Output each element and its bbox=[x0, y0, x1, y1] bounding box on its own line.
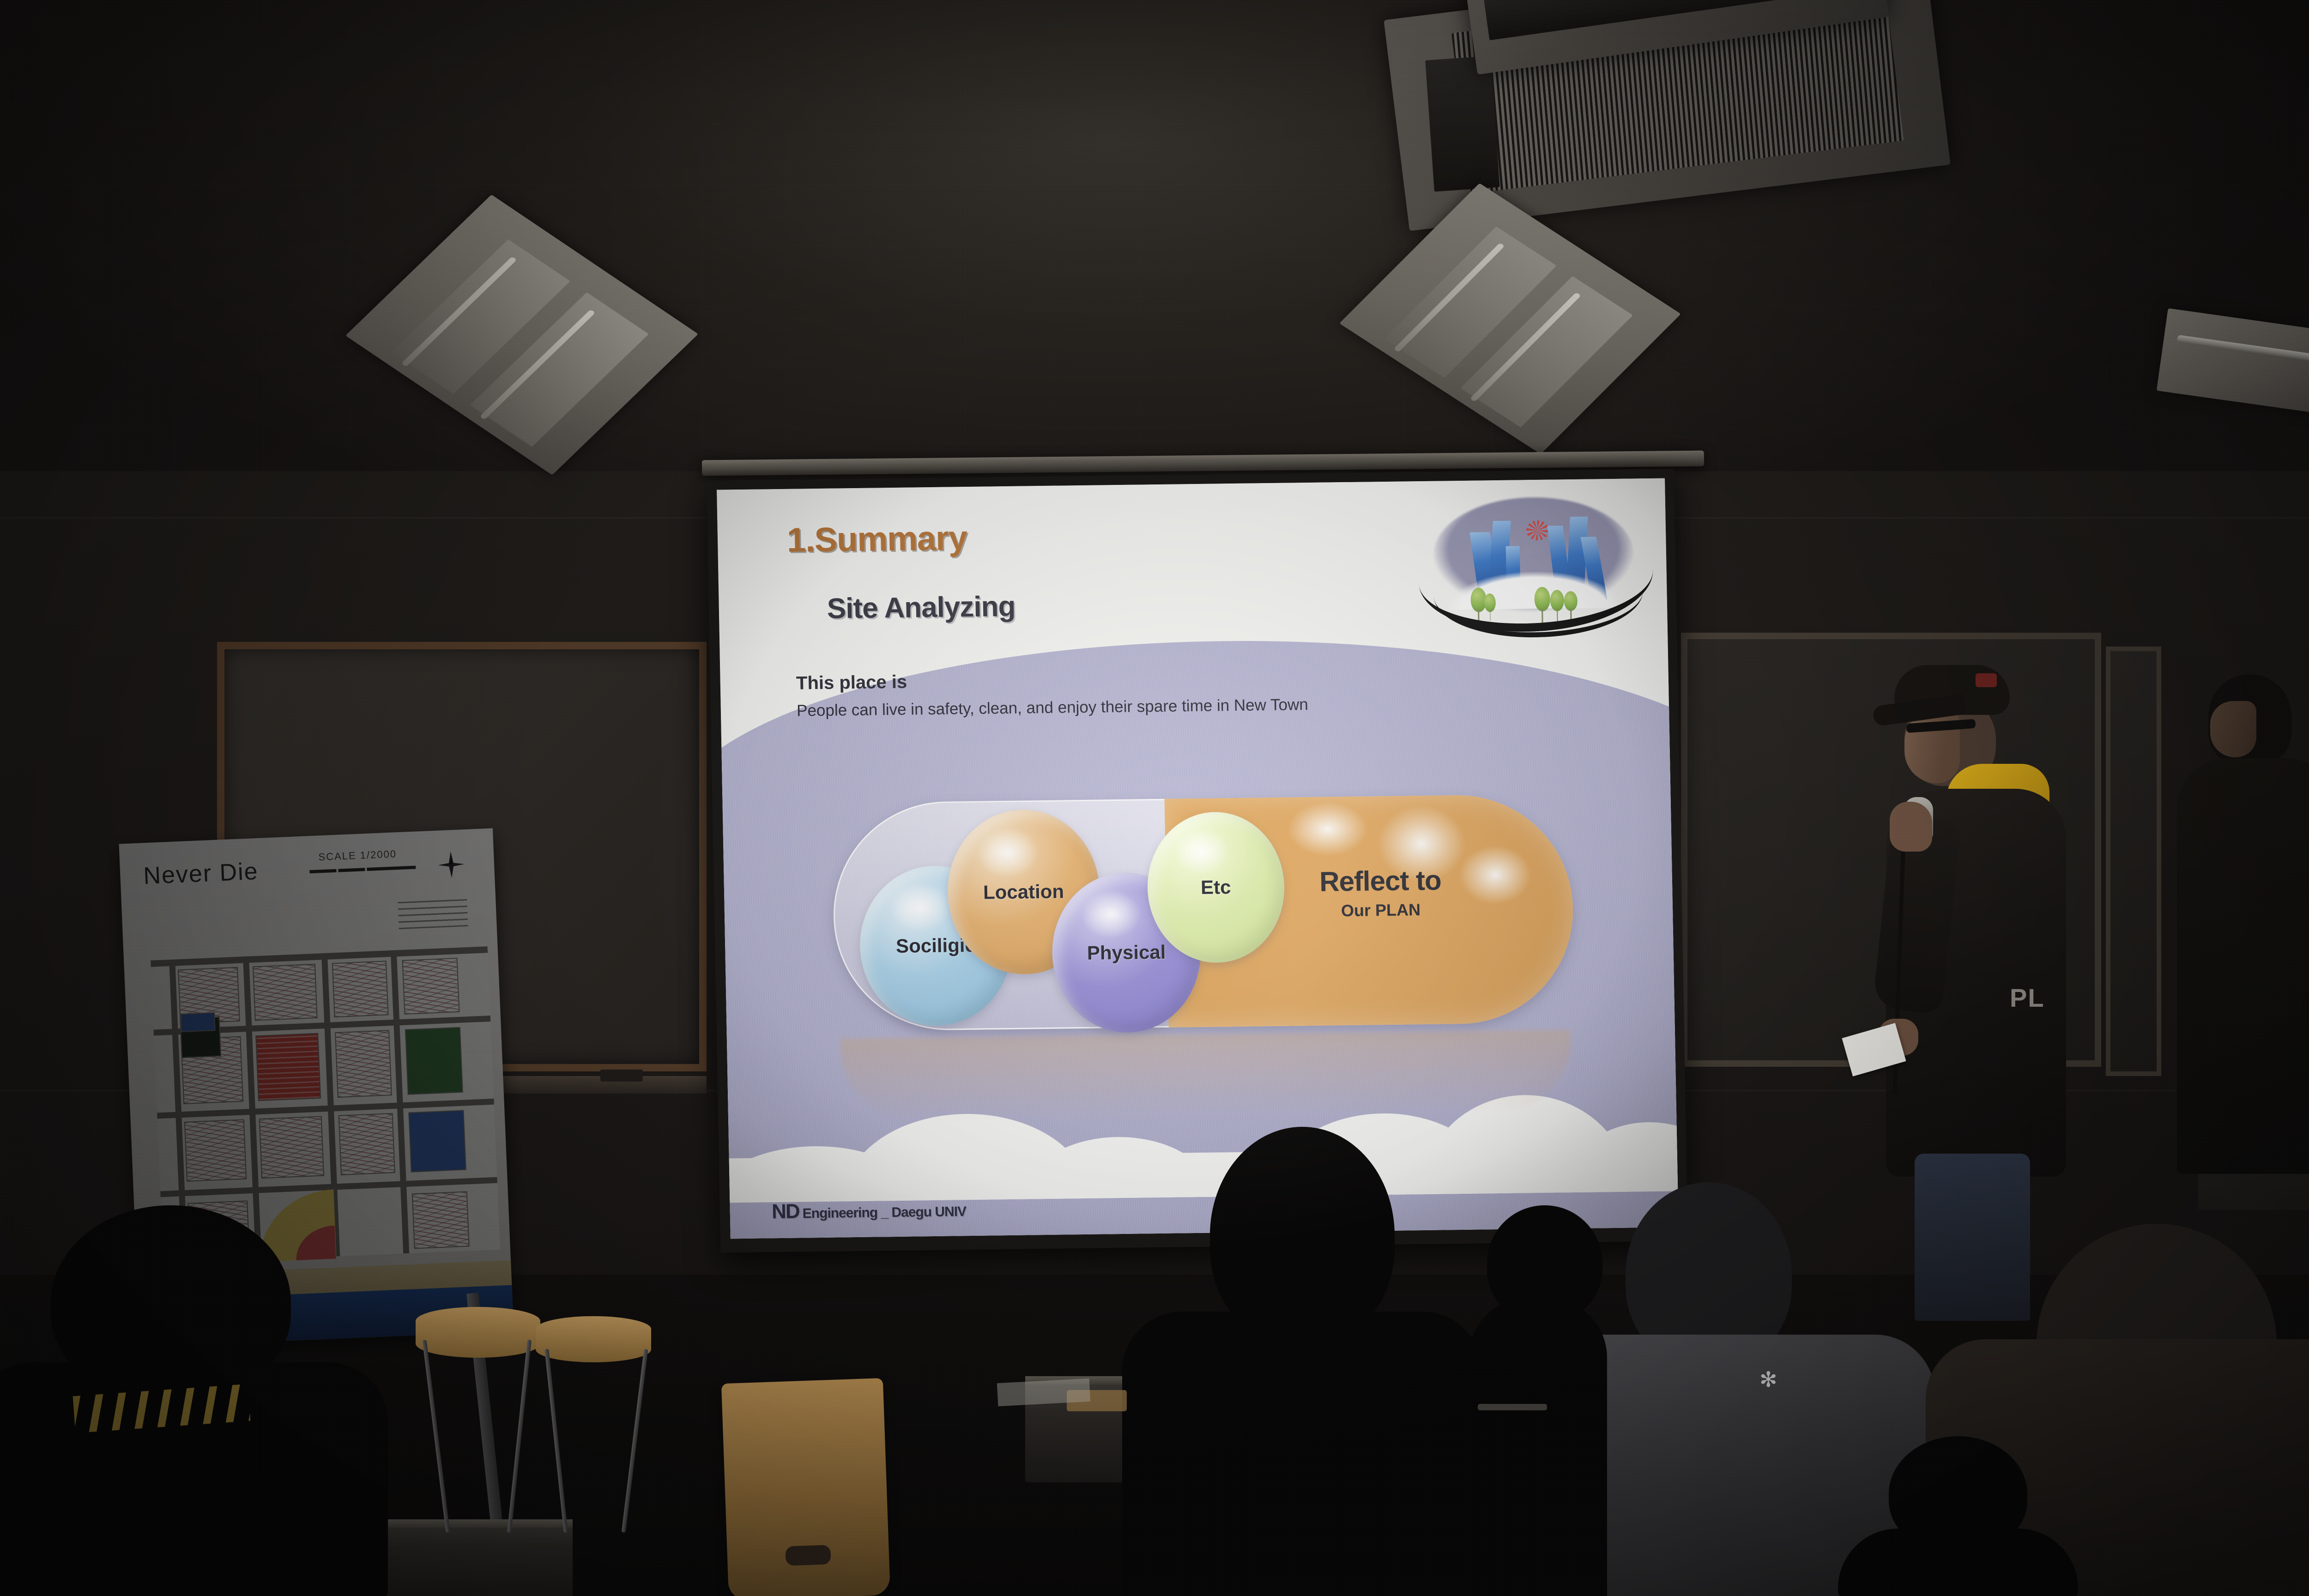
audience-shoulders bbox=[1122, 1312, 1482, 1596]
audience-front-left bbox=[0, 1205, 388, 1596]
map-block-park bbox=[405, 1027, 463, 1095]
person2-face bbox=[2210, 701, 2256, 757]
jacket-logo-text: PL bbox=[2010, 983, 2045, 1013]
audience-front-right bbox=[1838, 1436, 2078, 1596]
audience-grey-hoodie-cap bbox=[1469, 1205, 1607, 1596]
slide-title: 1.Summary bbox=[786, 518, 967, 560]
map-block bbox=[412, 1191, 470, 1249]
snowflake-graphic: ✻ bbox=[1759, 1367, 1777, 1392]
north-arrow-icon bbox=[436, 850, 466, 880]
glare-highlight bbox=[1287, 801, 1369, 857]
cap-logo bbox=[1976, 673, 1997, 687]
map-block-water bbox=[408, 1110, 466, 1173]
footer-affiliation: Engineering _ Daegu UNIV bbox=[802, 1204, 966, 1221]
audience-center bbox=[1122, 1127, 1482, 1596]
desk-item-paper bbox=[997, 1378, 1090, 1406]
ink-brush-stroke bbox=[1433, 588, 1644, 640]
bubble-label: Location bbox=[983, 881, 1064, 904]
map-block bbox=[253, 964, 318, 1021]
ac-vane bbox=[1484, 0, 1786, 40]
desk-item-pen bbox=[1478, 1404, 1547, 1410]
ceiling-tile-texture bbox=[0, 0, 2309, 490]
chair-handle-slot bbox=[785, 1545, 831, 1566]
map-block bbox=[332, 961, 389, 1017]
outcome-main-text: Reflect to bbox=[1232, 863, 1529, 899]
screen-surface: 1.Summary Site Analyzing This place is P… bbox=[717, 478, 1679, 1239]
ac-vane bbox=[1425, 56, 1499, 192]
map-block-highlight bbox=[255, 1033, 321, 1101]
whiteboard-eraser bbox=[600, 1070, 643, 1082]
map-block bbox=[335, 1030, 392, 1098]
poster-legend bbox=[398, 899, 468, 929]
map-block bbox=[184, 1119, 247, 1182]
person2-body bbox=[2177, 758, 2309, 1174]
chair-left bbox=[721, 1378, 890, 1596]
red-sun-icon bbox=[1526, 520, 1549, 540]
poster-title: Never Die bbox=[143, 858, 259, 890]
slide: 1.Summary Site Analyzing This place is P… bbox=[717, 478, 1679, 1239]
bubble-label: Etc bbox=[1201, 876, 1231, 899]
map-block-water bbox=[181, 1012, 216, 1032]
audience-shoulders bbox=[1838, 1529, 2078, 1596]
city-skyline-illustration bbox=[1419, 490, 1649, 635]
slide-lead-text: This place is bbox=[796, 672, 907, 694]
stool-left bbox=[416, 1307, 540, 1358]
map-block bbox=[259, 1116, 324, 1179]
presenter-hand bbox=[1890, 802, 1932, 852]
stool-right bbox=[536, 1316, 651, 1362]
map-block bbox=[402, 958, 460, 1015]
slide-subtitle: Site Analyzing bbox=[827, 590, 1015, 625]
bubble-label: Physical bbox=[1087, 941, 1166, 964]
outcome-sub-text: Our PLAN bbox=[1233, 899, 1529, 922]
audience-shoulders bbox=[1469, 1298, 1607, 1596]
slide-footer: ND Engineering _ Daegu UNIV bbox=[772, 1198, 967, 1223]
diagram-reflection bbox=[840, 1030, 1572, 1121]
bubble-diagram: Sociligic Location Physical Etc Reflect … bbox=[832, 794, 1575, 1031]
outcome-label: Reflect to Our PLAN bbox=[1232, 863, 1529, 922]
map-block bbox=[338, 1113, 395, 1175]
footer-brand: ND bbox=[772, 1200, 799, 1223]
door-frame-right bbox=[2106, 647, 2161, 1076]
second-standing-person bbox=[2170, 674, 2309, 1173]
ceiling bbox=[0, 0, 2309, 490]
lecture-room-scene: Never Die SCALE 1/2000 bbox=[0, 0, 2309, 1596]
